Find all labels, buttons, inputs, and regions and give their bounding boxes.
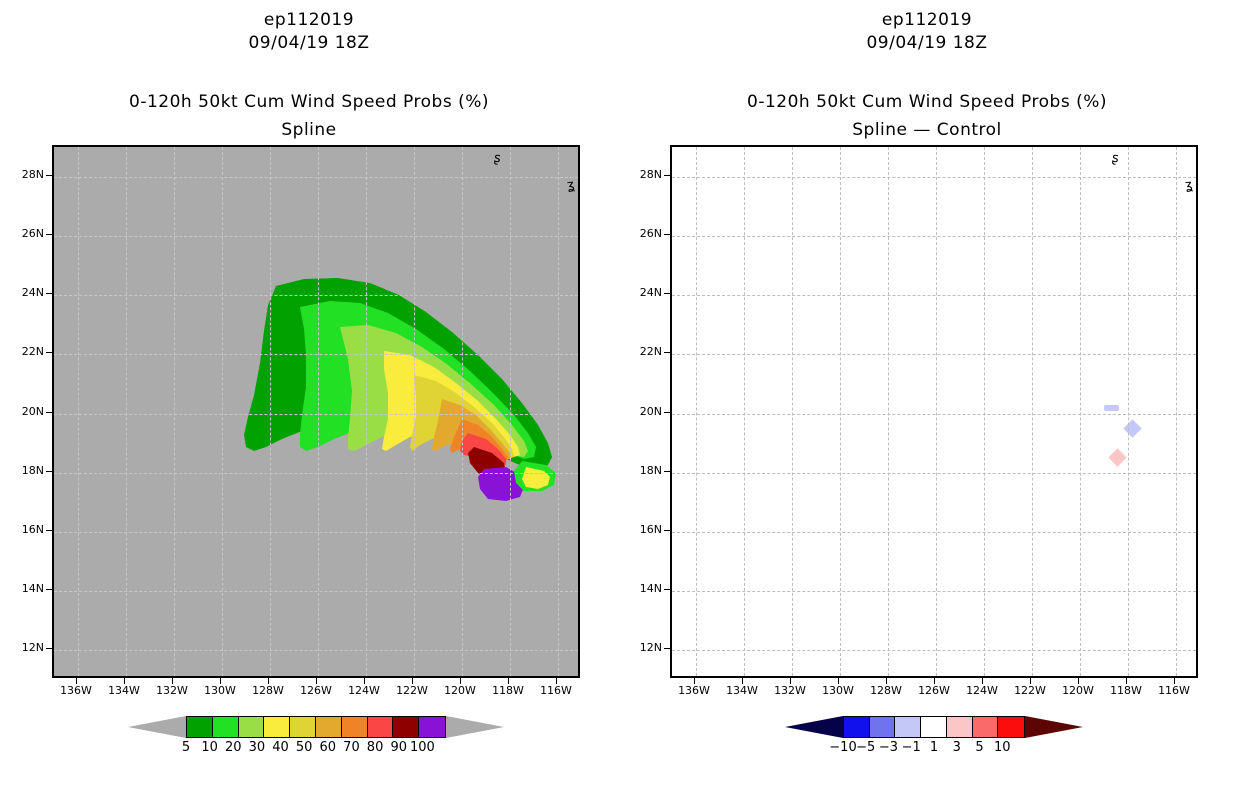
panel-subtitle-right: Spline — Control <box>618 120 1236 140</box>
axis-label-y: 26N <box>4 227 44 240</box>
probability-contour-plume <box>54 147 580 678</box>
panel-subtitle-left: Spline <box>0 120 618 140</box>
tick-y <box>46 352 52 353</box>
gridline-horizontal <box>54 532 578 533</box>
colorbar-segment <box>921 717 947 737</box>
axis-label-y: 26N <box>622 227 662 240</box>
tick-y <box>46 412 52 413</box>
difference-colorbar <box>670 716 1198 738</box>
gridline-horizontal <box>672 473 1196 474</box>
gridline-vertical <box>366 147 367 676</box>
gridline-horizontal <box>54 414 578 415</box>
tick-y <box>664 352 670 353</box>
tick-y <box>46 648 52 649</box>
colorbar-tick-label: 100 <box>400 740 444 755</box>
axis-label-y: 28N <box>4 168 44 181</box>
panel-spline: ep112019 09/04/19 18Z 0-120h 50kt Cum Wi… <box>0 0 618 800</box>
gridline-vertical <box>744 147 745 676</box>
gridline-horizontal <box>54 591 578 592</box>
gridline-vertical <box>174 147 175 676</box>
tick-y <box>46 471 52 472</box>
gridline-vertical <box>936 147 937 676</box>
axis-label-y: 16N <box>622 523 662 536</box>
baja-tip-right-icon-right: ʓ <box>1184 179 1193 193</box>
gridline-horizontal <box>54 177 578 178</box>
tick-y <box>664 175 670 176</box>
gridline-horizontal <box>672 591 1196 592</box>
gridline-vertical <box>222 147 223 676</box>
axis-label-x: 116W <box>526 684 586 697</box>
gridline-horizontal <box>672 532 1196 533</box>
negative-difference-diamond-marker <box>1108 448 1126 466</box>
gridline-vertical <box>126 147 127 676</box>
gridline-horizontal <box>54 354 578 355</box>
colorbar-segments-left <box>186 716 446 738</box>
axis-label-y: 24N <box>4 286 44 299</box>
positive-difference-bar-marker <box>1104 405 1119 411</box>
axis-label-y: 24N <box>622 286 662 299</box>
tick-y <box>46 293 52 294</box>
gridline-vertical <box>1176 147 1177 676</box>
storm-id-right: ep112019 <box>618 10 1236 30</box>
gridline-vertical <box>792 147 793 676</box>
gridline-vertical <box>1128 147 1129 676</box>
colorbar-high-arrow-right <box>1025 716 1083 738</box>
gridline-vertical <box>840 147 841 676</box>
axis-label-x: 116W <box>1144 684 1204 697</box>
product-title-left: 0-120h 50kt Cum Wind Speed Probs (%) <box>0 92 618 112</box>
gridline-vertical <box>414 147 415 676</box>
axis-label-y: 18N <box>622 464 662 477</box>
axis-label-y: 20N <box>622 405 662 418</box>
gridline-horizontal <box>54 236 578 237</box>
axis-label-y: 28N <box>622 168 662 181</box>
colorbar-segment <box>290 717 316 737</box>
axis-label-y: 20N <box>4 405 44 418</box>
tick-y <box>664 234 670 235</box>
colorbar-tick-label: 10 <box>980 740 1024 755</box>
gridline-vertical <box>1032 147 1033 676</box>
gridline-vertical <box>510 147 511 676</box>
gridline-vertical <box>696 147 697 676</box>
gridline-horizontal <box>672 177 1196 178</box>
colorbar-tick-labels-left: 5102030405060708090100 <box>0 740 618 758</box>
gridline-vertical <box>1080 147 1081 676</box>
product-title-right: 0-120h 50kt Cum Wind Speed Probs (%) <box>618 92 1236 112</box>
map-plot-area-difference[interactable]: ʂ ʓ <box>670 145 1198 678</box>
gridline-horizontal <box>54 473 578 474</box>
colorbar-high-arrow-left <box>446 716 504 738</box>
tick-y <box>664 648 670 649</box>
storm-id-left: ep112019 <box>0 10 618 30</box>
tick-y <box>664 293 670 294</box>
tick-y <box>46 589 52 590</box>
tick-y <box>46 234 52 235</box>
colorbar-segment <box>239 717 265 737</box>
colorbar-segment <box>393 717 419 737</box>
colorbar-segment <box>844 717 870 737</box>
gridline-horizontal <box>672 236 1196 237</box>
colorbar-segment <box>419 717 445 737</box>
gridline-vertical <box>78 147 79 676</box>
colorbar-segment <box>213 717 239 737</box>
colorbar-low-arrow-left <box>128 716 186 738</box>
colorbar-segment <box>342 717 368 737</box>
colorbar-segment <box>998 717 1024 737</box>
axis-label-y: 16N <box>4 523 44 536</box>
colorbar-segment <box>368 717 394 737</box>
panel-spline-minus-control: ep112019 09/04/19 18Z 0-120h 50kt Cum Wi… <box>618 0 1236 800</box>
gridline-horizontal <box>672 414 1196 415</box>
gridline-horizontal <box>672 295 1196 296</box>
gridline-vertical <box>888 147 889 676</box>
gridline-vertical <box>558 147 559 676</box>
axis-label-y: 14N <box>622 582 662 595</box>
axis-label-y: 22N <box>4 345 44 358</box>
gridline-vertical <box>984 147 985 676</box>
valid-time-right: 09/04/19 18Z <box>618 33 1236 53</box>
colorbar-segment <box>187 717 213 737</box>
tick-y <box>664 589 670 590</box>
probability-colorbar <box>52 716 580 738</box>
colorbar-segment <box>316 717 342 737</box>
colorbar-low-arrow-right <box>785 716 843 738</box>
tick-y <box>46 175 52 176</box>
gridline-horizontal <box>672 354 1196 355</box>
axis-label-y: 12N <box>622 641 662 654</box>
colorbar-segment <box>973 717 999 737</box>
tick-y <box>46 530 52 531</box>
colorbar-segment <box>870 717 896 737</box>
map-plot-area-spline[interactable]: ʂ ʓ <box>52 145 580 678</box>
gridline-horizontal <box>54 295 578 296</box>
colorbar-tick-labels-right: −10−5−3−113510 <box>618 740 1236 758</box>
colorbar-segments-right <box>843 716 1025 738</box>
gridline-vertical <box>318 147 319 676</box>
gridline-horizontal <box>672 650 1196 651</box>
axis-label-y: 18N <box>4 464 44 477</box>
positive-difference-diamond-marker <box>1123 419 1141 437</box>
gridline-horizontal <box>54 650 578 651</box>
tick-y <box>664 471 670 472</box>
axis-label-y: 22N <box>622 345 662 358</box>
axis-label-y: 12N <box>4 641 44 654</box>
gridline-vertical <box>270 147 271 676</box>
baja-tip-upper-icon-right: ʂ <box>1111 152 1120 166</box>
tick-y <box>664 412 670 413</box>
gridline-vertical <box>462 147 463 676</box>
colorbar-segment <box>895 717 921 737</box>
colorbar-segment <box>264 717 290 737</box>
tick-y <box>664 530 670 531</box>
valid-time-left: 09/04/19 18Z <box>0 33 618 53</box>
axis-label-y: 14N <box>4 582 44 595</box>
colorbar-segment <box>947 717 973 737</box>
